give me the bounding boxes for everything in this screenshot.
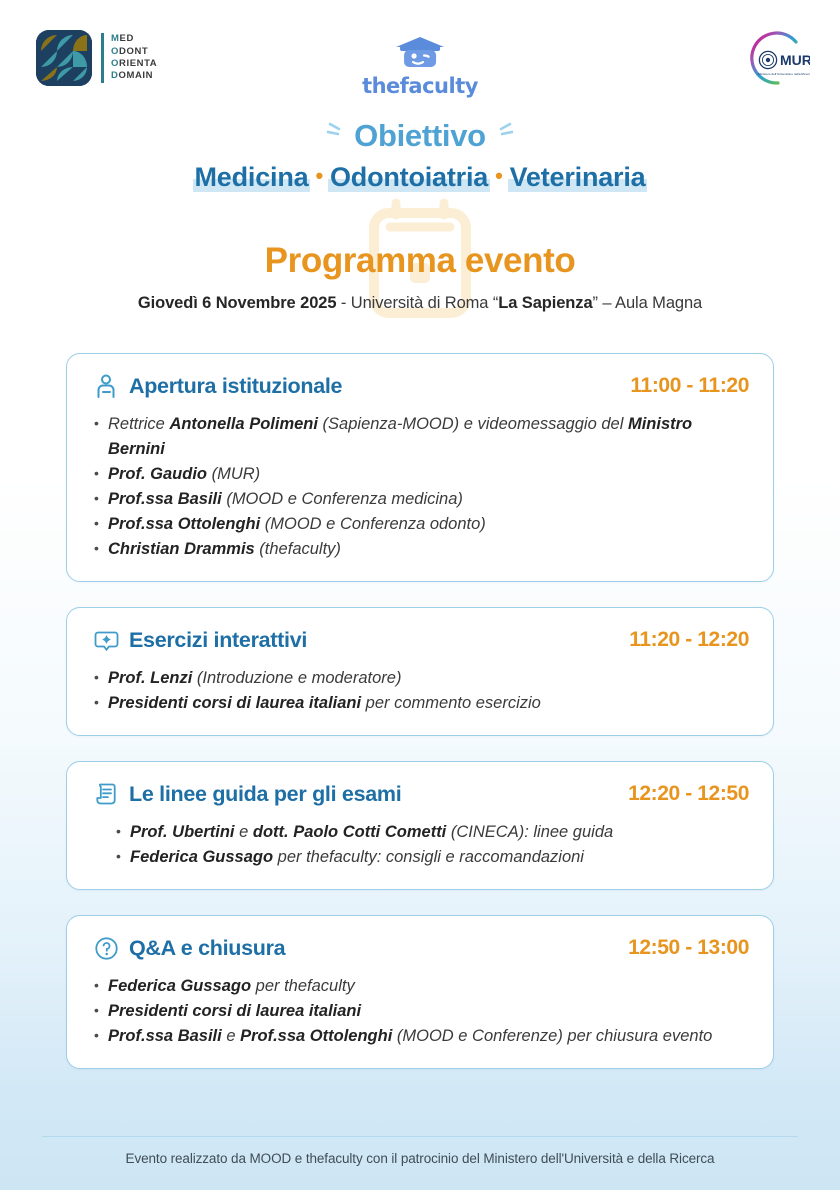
presenter-icon (91, 371, 121, 401)
session-card[interactable]: Apertura istituzionale 11:00 - 11:20 Ret… (66, 353, 774, 582)
list-item: Rettrice Antonella Polimeni (Sapienza-MO… (91, 412, 749, 462)
list-item: Prof.ssa Basili e Prof.ssa Ottolenghi (M… (91, 1024, 749, 1049)
list-item: Federica Gussago per thefaculty (91, 974, 749, 999)
hero-heading: Obiettivo Medicina•Odontoiatria•Veterina… (0, 118, 840, 195)
logo-bar: MED ODONT ORIENTA DOMAIN thefaculty (0, 0, 840, 110)
session-title: Le linee guida per gli esami (129, 782, 628, 807)
discipline-separator-1: • (310, 163, 328, 188)
venue-name: La Sapienza (498, 294, 592, 312)
graduation-cap-face-icon (392, 34, 448, 70)
footer-text: Evento realizzato da MOOD e thefaculty c… (40, 1151, 800, 1166)
hero-disciplines: Medicina•Odontoiatria•Veterinaria (0, 158, 840, 195)
session-items: Prof. Ubertini e dott. Paolo Cotti Comet… (91, 820, 749, 870)
mood-line-3: ORIENTA (111, 58, 157, 70)
session-items: Federica Gussago per thefaculty Presiden… (91, 974, 749, 1049)
mur-subtitle: Ministero dell'Università e della Ricerc… (758, 72, 810, 76)
session-title: Q&A e chiusura (129, 936, 628, 961)
hero-obiettivo-text: Obiettivo (354, 118, 486, 153)
sparkle-badge-icon (91, 625, 121, 655)
session-card[interactable]: Le linee guida per gli esami 12:20 - 12:… (66, 761, 774, 890)
sparkle-left-icon (326, 120, 352, 142)
mood-line-4: DOMAIN (111, 70, 157, 82)
session-time: 11:00 - 11:20 (630, 374, 749, 398)
session-card[interactable]: Q&A e chiusura 12:50 - 13:00 Federica Gu… (66, 915, 774, 1069)
session-time: 11:20 - 12:20 (629, 628, 749, 652)
question-circle-icon (91, 933, 121, 963)
session-items: Prof. Lenzi (Introduzione e moderatore) … (91, 666, 749, 716)
program-header: Programma evento Giovedì 6 Novembre 2025… (0, 241, 840, 321)
list-item: Prof.ssa Ottolenghi (MOOD e Conferenza o… (91, 512, 749, 537)
obiettivo-line: Obiettivo (320, 118, 520, 154)
list-item: Christian Drammis (thefaculty) (91, 537, 749, 562)
session-card-header: Esercizi interattivi 11:20 - 12:20 (91, 625, 749, 655)
mood-logo: MED ODONT ORIENTA DOMAIN (36, 30, 157, 86)
document-lines-icon (91, 779, 121, 809)
mood-line-2: ODONT (111, 46, 157, 58)
session-card-header: Le linee guida per gli esami 12:20 - 12:… (91, 779, 749, 809)
event-date: Giovedì 6 Novembre 2025 (138, 294, 337, 312)
session-card[interactable]: Esercizi interattivi 11:20 - 12:20 Prof.… (66, 607, 774, 736)
venue-post: ” – Aula Magna (593, 294, 703, 312)
list-item: Federica Gussago per thefaculty: consigl… (113, 845, 749, 870)
list-item: Prof. Lenzi (Introduzione e moderatore) (91, 666, 749, 691)
discipline-odontoiatria: Odontoiatria (328, 162, 490, 192)
venue-pre: - Università di Roma “ (336, 294, 498, 312)
discipline-veterinaria: Veterinaria (508, 162, 648, 192)
session-card-header: Q&A e chiusura 12:50 - 13:00 (91, 933, 749, 963)
discipline-medicina: Medicina (193, 162, 311, 192)
mur-acronym: MUR (780, 52, 810, 68)
session-card-list: Apertura istituzionale 11:00 - 11:20 Ret… (66, 353, 774, 1069)
sparkle-right-icon (488, 120, 514, 142)
list-item: Prof.ssa Basili (MOOD e Conferenza medic… (91, 487, 749, 512)
footer-divider (42, 1136, 798, 1137)
mur-logo: MUR Ministero dell'Università e della Ri… (738, 30, 810, 92)
session-card-header: Apertura istituzionale 11:00 - 11:20 (91, 371, 749, 401)
discipline-separator-2: • (490, 163, 508, 188)
session-time: 12:20 - 12:50 (628, 782, 749, 806)
mood-wordmark: MED ODONT ORIENTA DOMAIN (101, 33, 157, 83)
list-item: Prof. Gaudio (MUR) (91, 462, 749, 487)
page-title: Programma evento (0, 241, 840, 281)
footer: Evento realizzato da MOOD e thefaculty c… (0, 1136, 840, 1190)
list-item: Prof. Ubertini e dott. Paolo Cotti Comet… (113, 820, 749, 845)
list-item: Presidenti corsi di laurea italiani (91, 999, 749, 1024)
mood-line-1: MED (111, 33, 157, 45)
session-items: Rettrice Antonella Polimeni (Sapienza-MO… (91, 412, 749, 562)
list-item: Presidenti corsi di laurea italiani per … (91, 691, 749, 716)
thefaculty-logo: thefaculty (362, 34, 478, 98)
session-time: 12:50 - 13:00 (628, 936, 749, 960)
mood-mark-icon (36, 30, 92, 86)
session-title: Apertura istituzionale (129, 374, 630, 399)
session-title: Esercizi interattivi (129, 628, 629, 653)
event-date-venue: Giovedì 6 Novembre 2025 - Università di … (0, 294, 840, 313)
thefaculty-wordmark: thefaculty (362, 74, 478, 98)
